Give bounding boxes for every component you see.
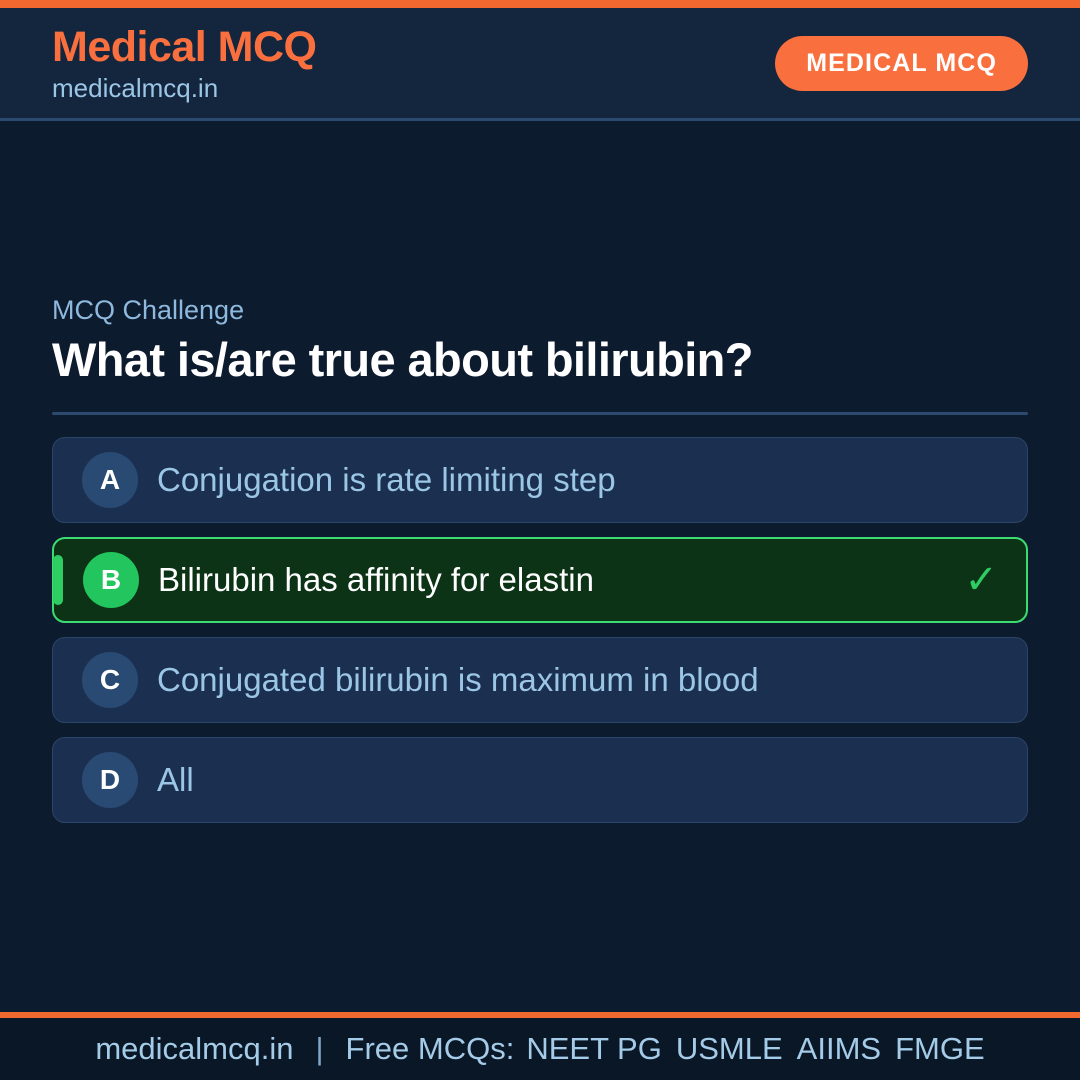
options-list: A Conjugation is rate limiting step ✓ B … [52,437,1028,823]
poster-canvas: Medical MCQ medicalmcq.in MEDICAL MCQ MC… [0,0,1080,1080]
footer-exam-fmge: FMGE [895,1031,985,1067]
page-header: Medical MCQ medicalmcq.in MEDICAL MCQ [0,8,1080,121]
option-text-c: Conjugated bilirubin is maximum in blood [157,662,951,698]
brand-subtitle: medicalmcq.in [52,75,317,101]
footer-label: Free MCQs: [346,1031,515,1067]
question-text: What is/are true about bilirubin? [52,334,1028,387]
option-text-d: All [157,762,951,798]
option-d[interactable]: D All ✓ [52,737,1028,823]
option-b[interactable]: B Bilirubin has affinity for elastin ✓ [52,537,1028,623]
footer-exam-neetpg: NEET PG [526,1031,662,1067]
brand-block: Medical MCQ medicalmcq.in [52,26,317,101]
option-letter-d: D [82,752,138,808]
option-letter-c: C [82,652,138,708]
option-a[interactable]: A Conjugation is rate limiting step ✓ [52,437,1028,523]
brand-badge: MEDICAL MCQ [775,36,1028,91]
footer-separator: | [315,1031,323,1067]
option-letter-b: B [83,552,139,608]
option-text-b: Bilirubin has affinity for elastin [158,562,950,598]
footer-exam-usmle: USMLE [676,1031,783,1067]
correct-accent-bar [53,555,63,605]
question-divider [52,412,1028,415]
option-text-a: Conjugation is rate limiting step [157,462,951,498]
top-accent-bar [0,0,1080,8]
quiz-kicker: MCQ Challenge [52,296,1028,326]
option-c[interactable]: C Conjugated bilirubin is maximum in blo… [52,637,1028,723]
footer-site: medicalmcq.in [95,1031,293,1067]
option-letter-a: A [82,452,138,508]
page-footer: medicalmcq.in | Free MCQs: NEET PG USMLE… [0,1018,1080,1080]
main-content: MCQ Challenge What is/are true about bil… [0,121,1080,1012]
check-icon-b: ✓ [964,560,998,600]
footer-exam-aiims: AIIMS [797,1031,881,1067]
brand-title: Medical MCQ [52,26,317,69]
